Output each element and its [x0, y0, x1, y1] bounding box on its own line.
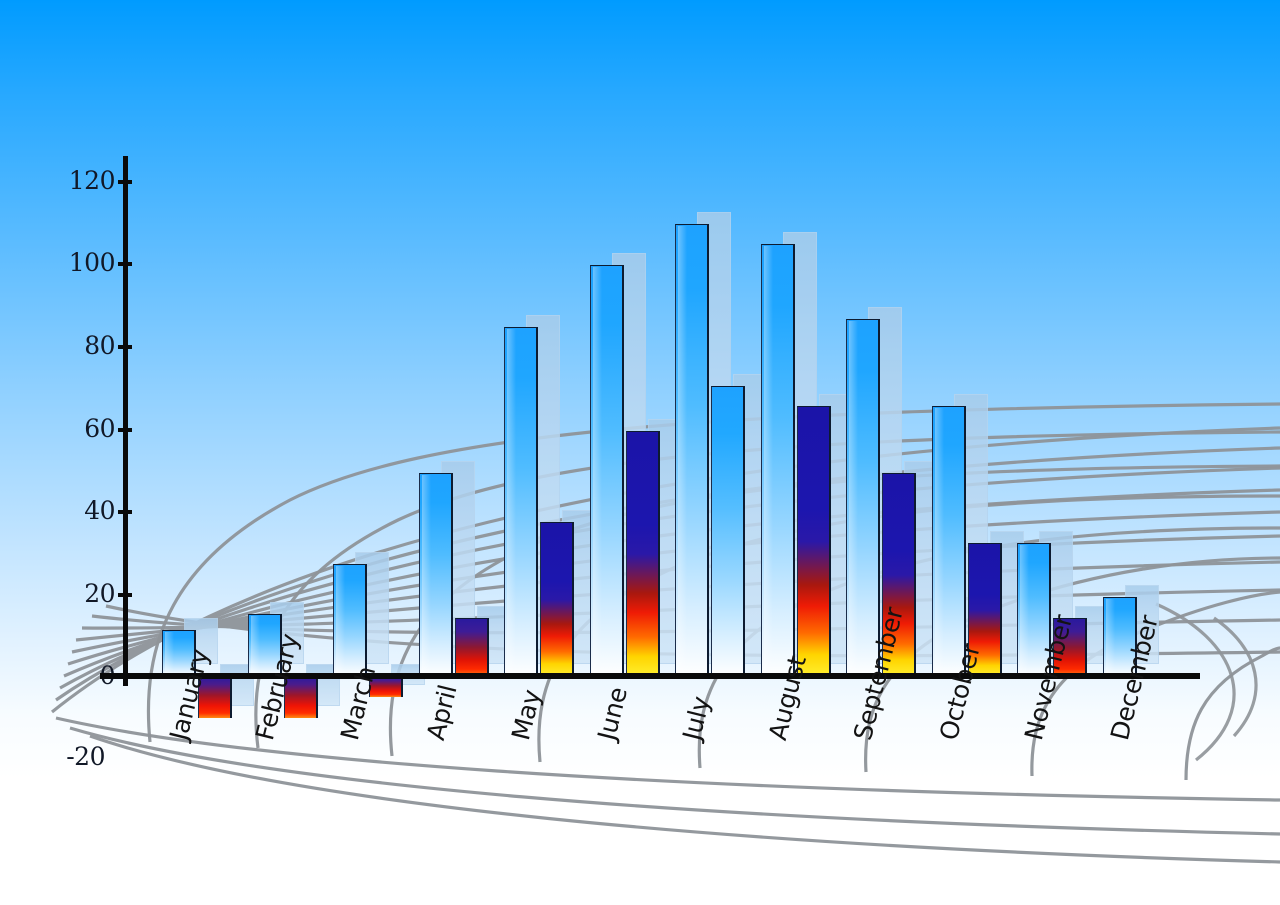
bar-gloss [849, 321, 858, 677]
bar-gloss [1020, 545, 1029, 677]
bar-series2-may[interactable] [540, 522, 574, 676]
bar-series2-july[interactable] [711, 386, 745, 677]
bar-gloss [165, 632, 174, 677]
y-tick-mark [118, 593, 132, 597]
bar-series2-august[interactable] [797, 406, 831, 676]
y-tick-label-40: 40 [45, 496, 115, 525]
bar-series2-june[interactable] [626, 431, 660, 676]
y-tick-mark [118, 262, 132, 266]
bar-series1-may[interactable] [504, 327, 538, 676]
bar-series1-april[interactable] [419, 473, 453, 676]
x-axis-label-june: June [592, 684, 633, 743]
y-tick-label-60: 60 [45, 414, 115, 443]
x-axis-label-may: May [506, 687, 546, 743]
bar-series1-september[interactable] [846, 319, 880, 676]
chart-canvas: 120 100 80 60 40 20 0 -20 JanuaryFebruar… [0, 0, 1280, 905]
bar-series1-june[interactable] [590, 265, 624, 676]
bar-series1-march[interactable] [333, 564, 367, 676]
bar-series1-october[interactable] [932, 406, 966, 676]
x-axis-label-july: July [677, 694, 716, 743]
bar-series1-july[interactable] [675, 224, 709, 676]
y-tick-label-20: 20 [45, 579, 115, 608]
bar-gloss [251, 616, 260, 677]
bar-gloss [678, 226, 687, 677]
bar-gloss [764, 246, 773, 677]
y-tick-label-80: 80 [45, 331, 115, 360]
bar-gloss [935, 408, 944, 677]
y-axis-line [123, 156, 128, 686]
bar-gloss [1106, 599, 1115, 677]
bar-gloss [422, 475, 431, 677]
bar-gloss [593, 267, 602, 677]
bar-gloss [507, 329, 516, 677]
x-axis-label-april: April [421, 682, 463, 743]
bar-series2-april[interactable] [455, 618, 489, 676]
y-tick-label-120: 120 [45, 166, 115, 195]
bar-gloss [336, 566, 345, 677]
y-tick-label-100: 100 [45, 248, 115, 277]
bar-series1-august[interactable] [761, 244, 795, 676]
y-tick-mark [118, 345, 132, 349]
y-tick-mark [118, 428, 132, 432]
y-tick-mark [118, 180, 132, 184]
y-tick-mark [118, 510, 132, 514]
y-tick-label-neg20: -20 [35, 742, 105, 771]
plot-area: 120 100 80 60 40 20 0 -20 JanuaryFebruar… [0, 0, 1280, 905]
